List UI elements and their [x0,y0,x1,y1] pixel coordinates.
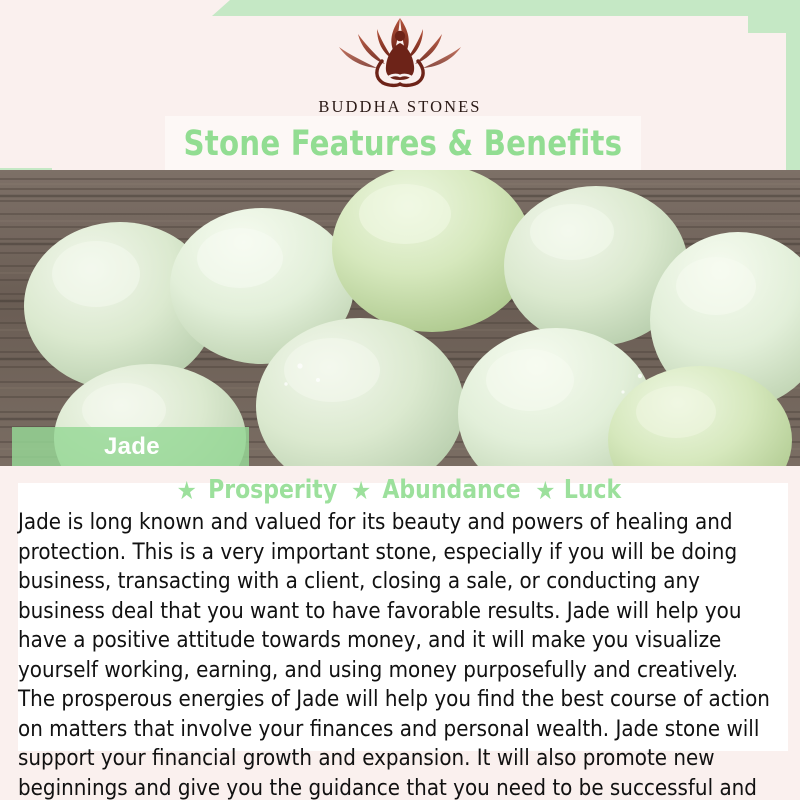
star-icon: ★ [351,478,371,503]
star-icon: ★ [177,478,197,503]
lotus-meditation-icon [325,14,475,94]
benefit-item-abundance: ★ Abundance [351,475,525,505]
page-title: Stone Features & Benefits [184,124,623,164]
stone-photo-illustration [0,170,800,466]
stone-description-text: Jade is long known and valued for its be… [18,508,778,800]
brand-header: BUDDHA STONES [0,0,800,120]
stone-name: Jade [104,433,160,461]
brand-name: BUDDHA STONES [318,97,481,117]
benefit-label: Prosperity [208,475,337,505]
benefit-label: Luck [564,475,621,505]
benefit-label: Abundance [383,475,521,505]
section-title-band: Stone Features & Benefits [165,116,641,172]
product-info-poster: BUDDHA STONES Stone Features & Benefits [0,0,800,800]
benefits-list: ★ Prosperity ★ Abundance ★ Luck [0,475,800,505]
stone-name-badge: Jade [12,427,249,467]
brand-logo: BUDDHA STONES [318,4,481,117]
star-icon: ★ [535,478,555,503]
stone-photo [0,170,800,466]
benefit-item-prosperity: ★ Prosperity [177,475,341,505]
benefit-item-luck: ★ Luck [535,475,623,505]
